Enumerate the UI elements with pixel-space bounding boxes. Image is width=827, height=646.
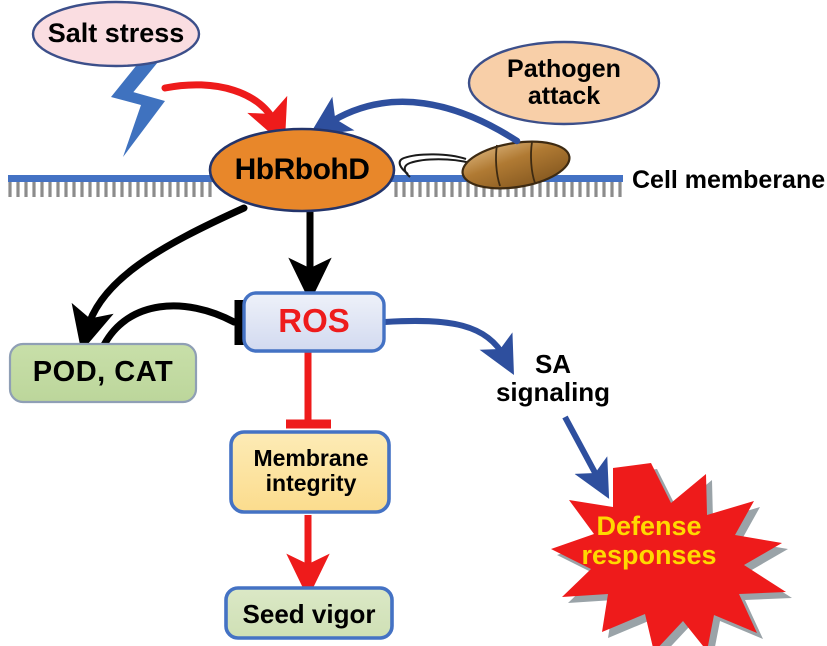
node-seed-vigor[interactable]	[226, 588, 392, 638]
node-defense-responses[interactable]	[551, 463, 792, 646]
node-ros[interactable]	[244, 293, 384, 351]
node-hbrbohd[interactable]	[210, 129, 394, 211]
node-membrane-integrity[interactable]	[231, 432, 389, 512]
edge-pod-cat-inhibits-ros	[104, 306, 234, 345]
edge-ros-to-sa-signaling	[385, 321, 505, 358]
diagram-canvas	[0, 0, 827, 646]
edge-sa-signaling-to-defense-responses	[565, 417, 600, 482]
node-pathogen-attack[interactable]	[469, 42, 659, 124]
edge-hbrbohd-to-pod-cat	[87, 208, 244, 330]
node-pod-cat[interactable]	[10, 344, 196, 402]
pathway-diagram: Salt stress Pathogen attack HbRbohD Cell…	[0, 0, 827, 646]
edge-salt-stress-to-hbrbohd	[165, 85, 276, 125]
node-salt-stress[interactable]	[33, 2, 199, 66]
